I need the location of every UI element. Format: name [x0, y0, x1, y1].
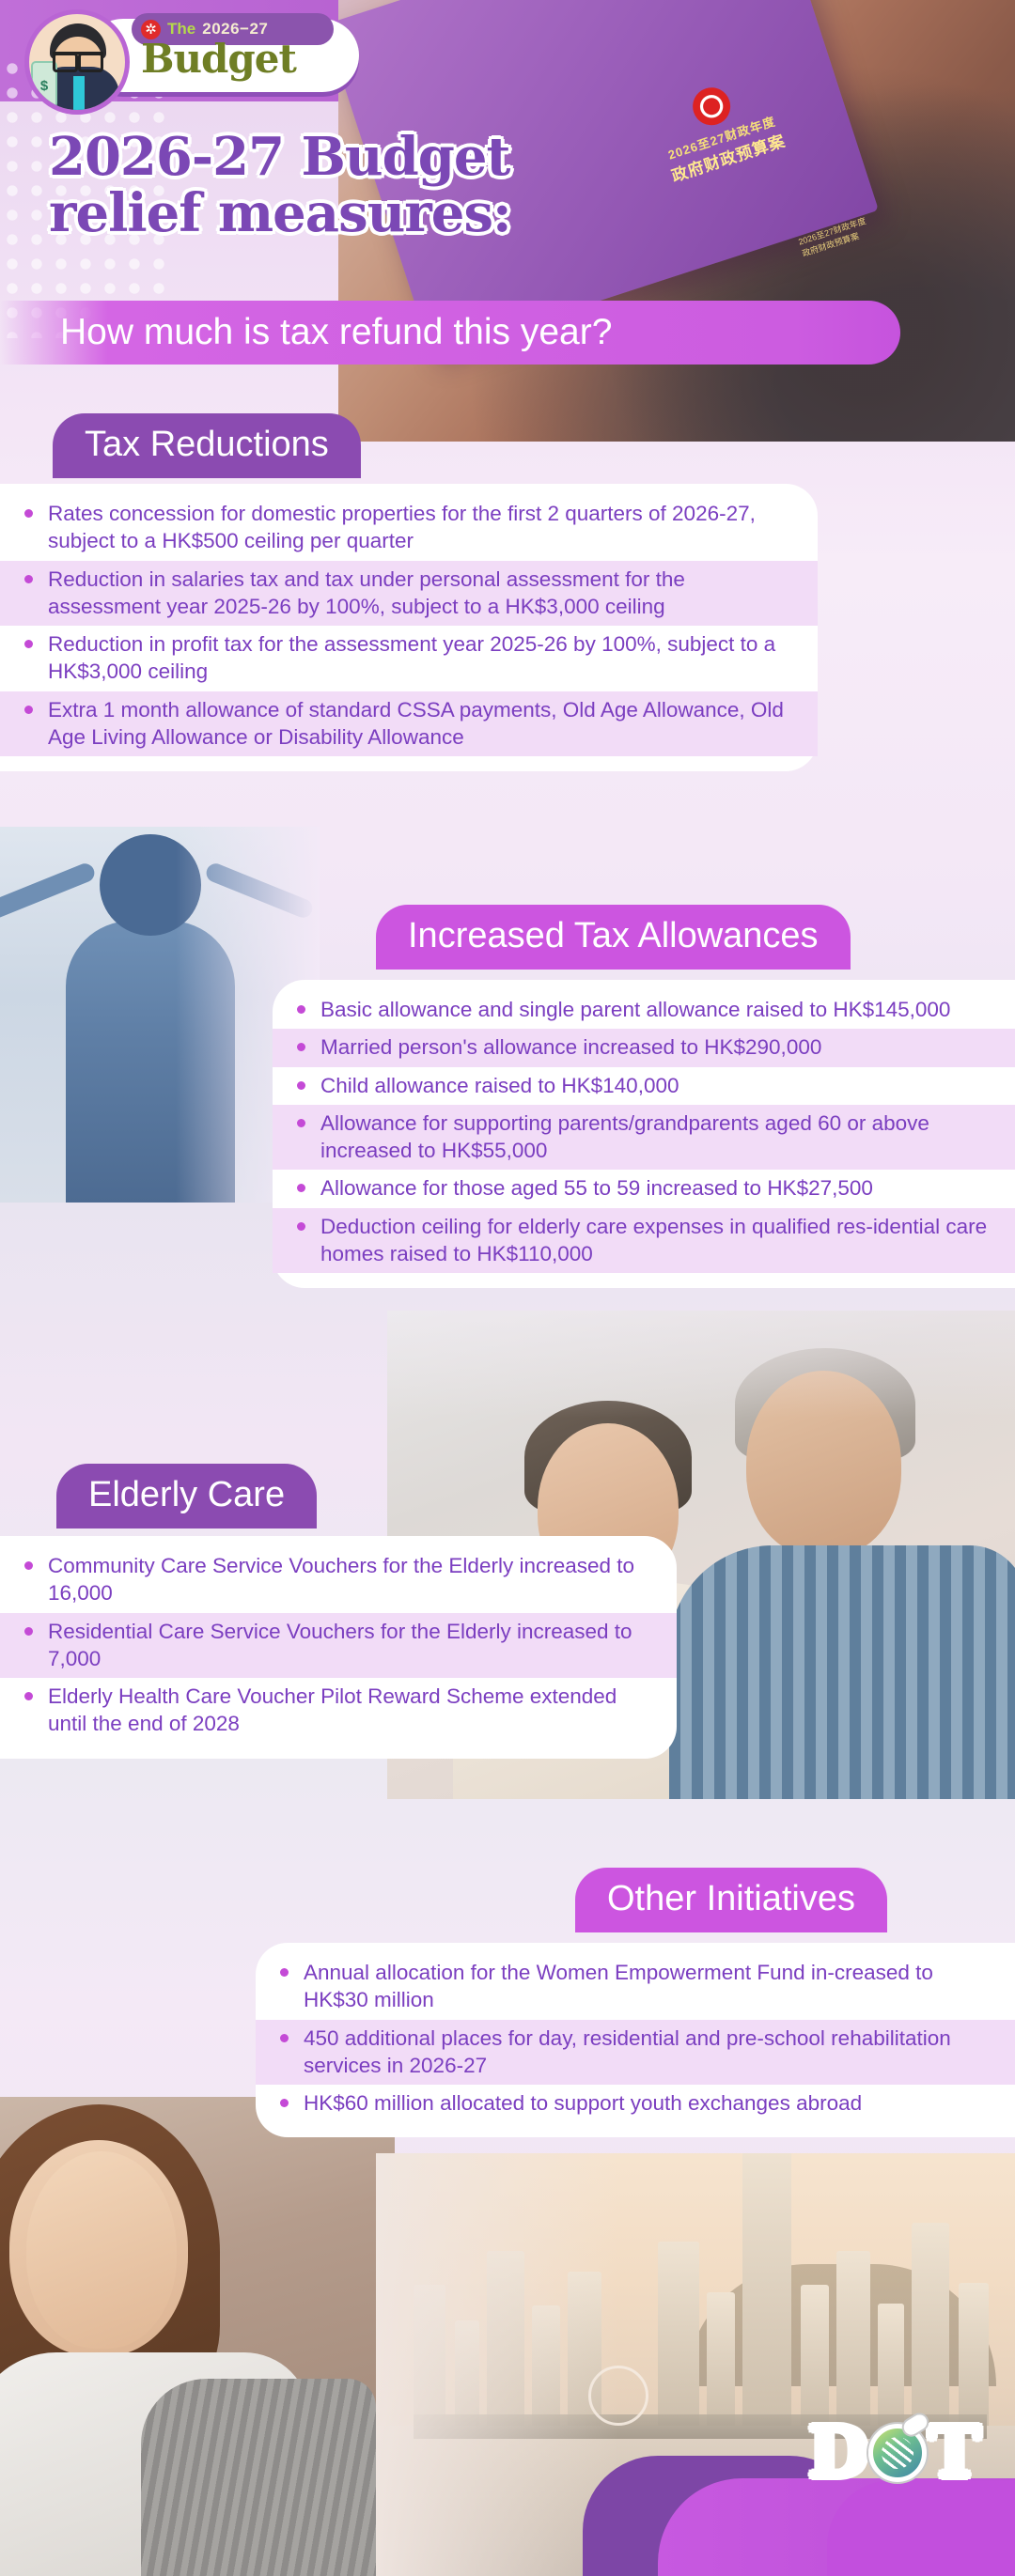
section-heading: Tax Reductions — [53, 413, 361, 478]
bullet-item: Deduction ceiling for elderly care expen… — [273, 1208, 1015, 1274]
bullet-item: Extra 1 month allowance of standard CSSA… — [0, 691, 818, 757]
bullet-dot-icon — [297, 1043, 305, 1051]
avatar-tie — [73, 76, 85, 110]
bullet-text: Reduction in profit tax for the assessme… — [48, 630, 797, 686]
bullet-dot-icon — [24, 706, 33, 714]
bullet-item: Community Care Service Vouchers for the … — [0, 1547, 677, 1613]
booklet-cover-label: 2026至27财政年度 政府财政预算案 — [612, 58, 826, 200]
bullet-dot-icon — [24, 509, 33, 518]
page-title-line-1: 2026-27 Budget — [49, 126, 509, 188]
bullet-dot-icon — [280, 2034, 289, 2042]
bullet-text: Allowance for supporting parents/grandpa… — [320, 1110, 994, 1165]
bullet-item: Allowance for supporting parents/grandpa… — [273, 1105, 1015, 1171]
bullet-item: Residential Care Service Vouchers for th… — [0, 1613, 677, 1679]
section-bullet-list: Basic allowance and single parent allowa… — [273, 980, 1015, 1288]
bullet-item: HK$60 million allocated to support youth… — [256, 2085, 1015, 2122]
page-title: 2026-27 Budget relief measures: — [49, 130, 511, 242]
student-sweater — [141, 2379, 376, 2576]
subtitle-text: How much is tax refund this year? — [60, 312, 612, 353]
student-photo — [0, 2097, 395, 2576]
bullet-item: Basic allowance and single parent allowa… — [273, 991, 1015, 1029]
financial-secretary-avatar — [24, 9, 130, 115]
bullet-item: Reduction in profit tax for the assessme… — [0, 626, 818, 691]
subtitle-banner: How much is tax refund this year? — [0, 301, 900, 365]
bullet-dot-icon — [24, 640, 33, 648]
bullet-text: Annual allocation for the Women Empowerm… — [304, 1959, 994, 2014]
bullet-text: 450 additional places for day, residenti… — [304, 2025, 994, 2080]
booklet-side-text: 2026至27财政年度政府财政预算案 — [797, 215, 871, 259]
hk-emblem-icon — [688, 83, 735, 130]
bullet-item: Reduction in salaries tax and tax under … — [0, 561, 818, 627]
bullet-text: Community Care Service Vouchers for the … — [48, 1552, 656, 1607]
glasses-icon — [53, 52, 103, 65]
bullet-item: Annual allocation for the Women Empowerm… — [256, 1954, 1015, 2020]
bullet-item: Elderly Health Care Voucher Pilot Reward… — [0, 1678, 677, 1744]
section-bullet-list: Rates concession for domestic properties… — [0, 484, 818, 771]
bullet-text: Elderly Health Care Voucher Pilot Reward… — [48, 1683, 656, 1738]
dot-logo-letter-t: T — [929, 2413, 978, 2493]
bullet-item: 450 additional places for day, residenti… — [256, 2020, 1015, 2086]
bullet-text: Allowance for those aged 55 to 59 increa… — [320, 1174, 994, 1202]
infographic-page: 2026至27财政年度 政府财政预算案 2026至27财政年度政府财政预算案 — [0, 0, 1015, 2576]
bullet-item: Allowance for those aged 55 to 59 increa… — [273, 1170, 1015, 1207]
section-heading: Other Initiatives — [575, 1868, 887, 1932]
bullet-text: Extra 1 month allowance of standard CSSA… — [48, 696, 797, 752]
page-title-line-2: relief measures: — [49, 186, 511, 242]
bullet-text: Married person's allowance increased to … — [320, 1033, 994, 1061]
bullet-dot-icon — [24, 1561, 33, 1570]
badge-budget-label: Budget — [141, 36, 296, 82]
dot-logo-letter-d: D — [808, 2413, 867, 2493]
bullet-dot-icon — [24, 1692, 33, 1700]
bullet-dot-icon — [280, 1968, 289, 1977]
yarn-ball-icon — [868, 2424, 927, 2482]
bullet-item: Married person's allowance increased to … — [273, 1029, 1015, 1066]
student-face — [26, 2151, 177, 2349]
section-heading: Elderly Care — [56, 1464, 317, 1529]
bullet-dot-icon — [297, 1184, 305, 1192]
section-bullet-list: Community Care Service Vouchers for the … — [0, 1536, 677, 1759]
section-bullet-list: Annual allocation for the Women Empowerm… — [256, 1943, 1015, 2137]
bullet-dot-icon — [297, 1119, 305, 1127]
bullet-dot-icon — [297, 1005, 305, 1014]
bullet-text: HK$60 million allocated to support youth… — [304, 2089, 994, 2117]
child-on-shoulders-photo — [0, 827, 320, 1203]
bullet-text: Deduction ceiling for elderly care expen… — [320, 1213, 994, 1268]
bullet-dot-icon — [297, 1222, 305, 1231]
bullet-dot-icon — [280, 2099, 289, 2107]
footer-right-blob — [827, 2480, 1015, 2576]
bullet-text: Child allowance raised to HK$140,000 — [320, 1072, 994, 1099]
bullet-dot-icon — [297, 1081, 305, 1090]
dot-logo[interactable]: D T — [808, 2413, 978, 2493]
bullet-text: Residential Care Service Vouchers for th… — [48, 1618, 656, 1673]
photo-fade-overlay — [0, 827, 320, 1203]
bullet-text: Rates concession for domestic properties… — [48, 500, 797, 555]
bullet-text: Basic allowance and single parent allowa… — [320, 996, 994, 1023]
bullet-dot-icon — [24, 575, 33, 583]
bullet-item: Child allowance raised to HK$140,000 — [273, 1067, 1015, 1105]
bullet-text: Reduction in salaries tax and tax under … — [48, 566, 797, 621]
bullet-dot-icon — [24, 1627, 33, 1636]
section-heading: Increased Tax Allowances — [376, 905, 851, 970]
bullet-item: Rates concession for domestic properties… — [0, 495, 818, 561]
